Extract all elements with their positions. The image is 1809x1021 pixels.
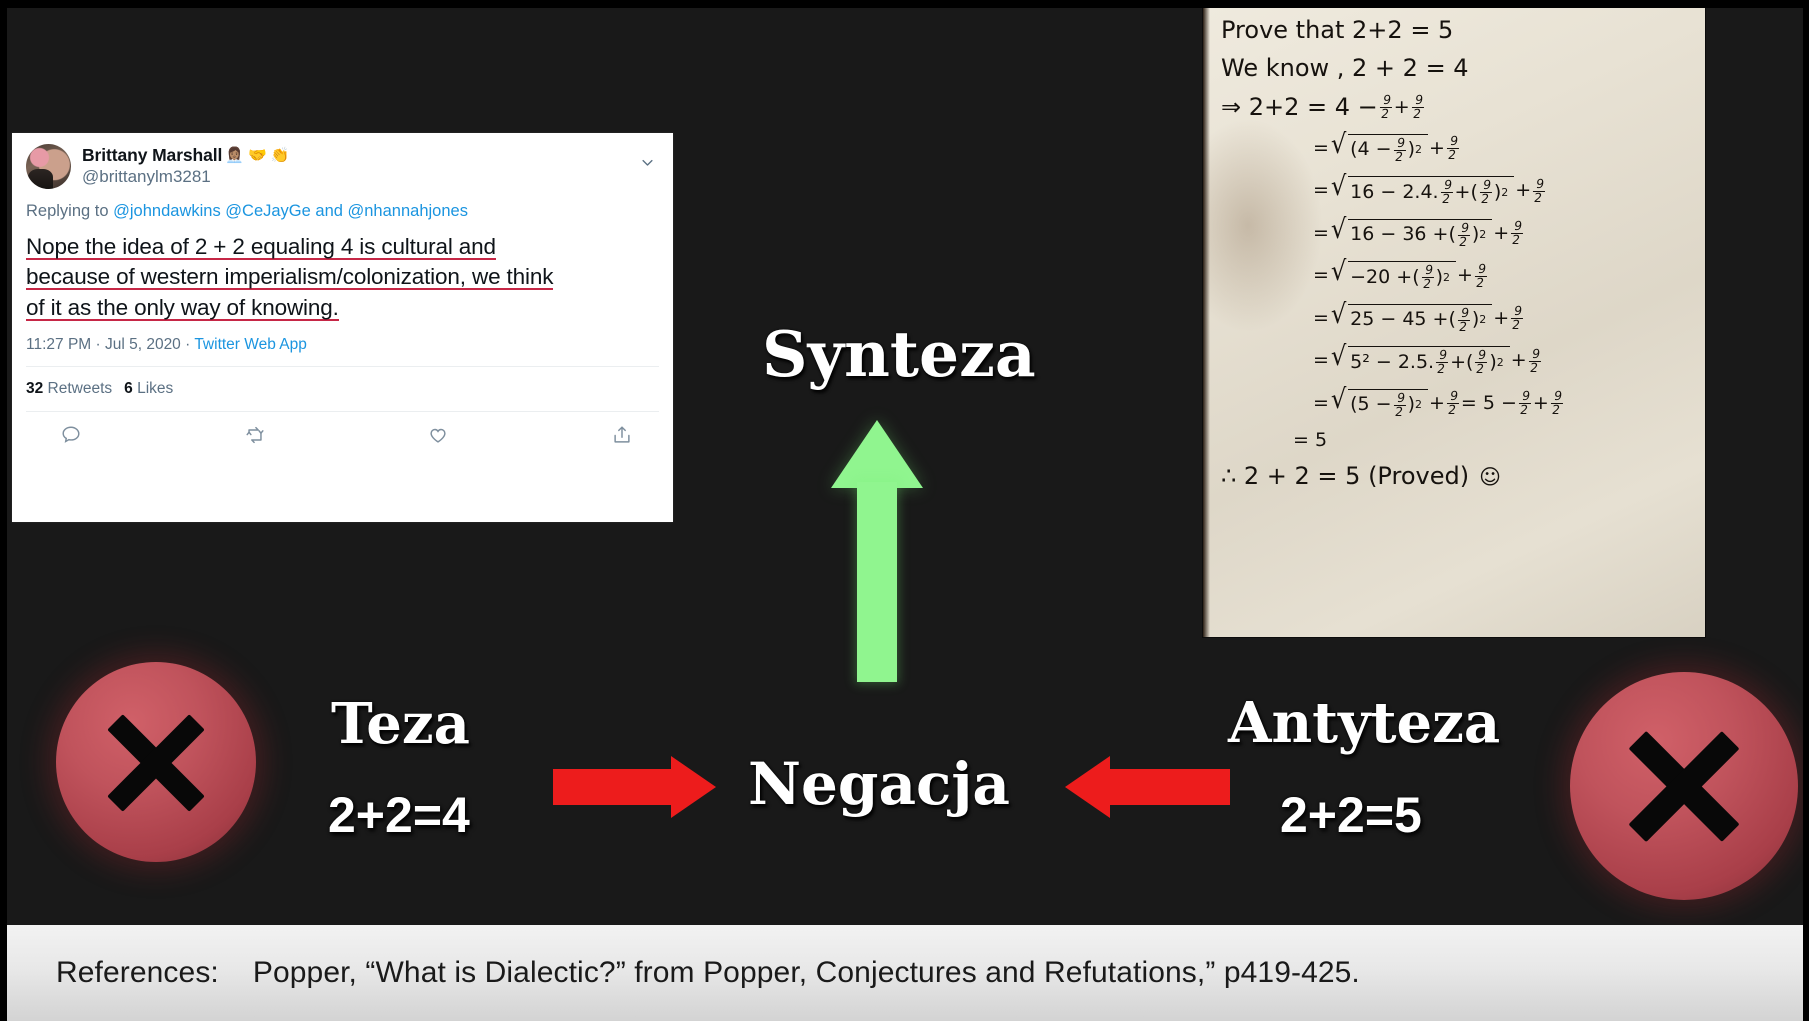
- radical: √ 25 − 45 +(92)2: [1330, 304, 1492, 334]
- avatar: [26, 144, 71, 189]
- proof-title: Prove that 2+2 = 5: [1221, 18, 1705, 43]
- smiley-face-icon: ☺: [1479, 466, 1501, 488]
- proof-step-1-plus: +: [1394, 98, 1410, 118]
- radical: √ −20 +(92)2: [1330, 261, 1456, 291]
- references-text-row: References:Popper, “What is Dialectic?” …: [0, 956, 1360, 990]
- radical: √ 5² − 2.5.92+(92)2: [1330, 346, 1510, 376]
- tweet-identity: Brittany Marshall 👩🏽‍💼 🤝 👏 @brittanylm32…: [82, 144, 289, 187]
- x-mark-badge-right: [1570, 672, 1798, 900]
- handwritten-proof-text: Prove that 2+2 = 5 We know , 2 + 2 = 4 ⇒…: [1203, 4, 1705, 490]
- tweet-body-line-1: Nope the idea of 2 + 2 equaling 4 is cul…: [26, 234, 496, 260]
- radical: √ 16 − 2.4.92+(92)2: [1330, 176, 1514, 206]
- proof-step-6: = √ 25 − 45 +(92)2 + 92: [1221, 304, 1705, 334]
- tweet-body-line-3: of it as the only way of knowing.: [26, 295, 339, 321]
- retweets-label: Retweets: [43, 380, 112, 397]
- tweet-replying-to: Replying to @johndawkins @CeJayGe and @n…: [12, 189, 673, 221]
- label-negation: Negacja: [748, 750, 1010, 818]
- share-icon[interactable]: [611, 424, 633, 446]
- likes-label: Likes: [133, 380, 174, 397]
- label-antithesis: Antyteza: [1228, 690, 1500, 756]
- references-label: References:: [56, 956, 219, 989]
- proof-step-1: ⇒ 2+2 = 4 − 92 + 92: [1221, 94, 1705, 121]
- tweet-display-name-text: Brittany Marshall: [82, 145, 222, 166]
- replying-to-mentions[interactable]: @johndawkins @CeJayGe and @nhannahjones: [113, 202, 468, 220]
- handwritten-proof-photo: Prove that 2+2 = 5 We know , 2 + 2 = 4 ⇒…: [1203, 4, 1705, 637]
- x-mark-icon: [1618, 720, 1750, 852]
- proof-known-line: We know , 2 + 2 = 4: [1221, 56, 1705, 81]
- chevron-down-icon[interactable]: [640, 155, 655, 170]
- like-icon[interactable]: [427, 424, 449, 446]
- proof-step-5: = √ −20 +(92)2 + 92: [1221, 261, 1705, 291]
- equation-antithesis: 2+2=5: [1280, 786, 1422, 844]
- proof-step-2: = √ (4 −92)2 + 92: [1221, 134, 1705, 164]
- radical: √ 16 − 36 +(92)2: [1330, 219, 1492, 249]
- reply-icon[interactable]: [60, 424, 82, 446]
- proof-step-4: = √ 16 − 36 +(92)2 + 92: [1221, 219, 1705, 249]
- tweet-header: Brittany Marshall 👩🏽‍💼 🤝 👏 @brittanylm32…: [12, 133, 673, 189]
- tweet-screenshot-card: Brittany Marshall 👩🏽‍💼 🤝 👏 @brittanylm32…: [12, 133, 673, 522]
- replying-to-prefix: Replying to: [26, 202, 113, 220]
- slide-canvas: Brittany Marshall 👩🏽‍💼 🤝 👏 @brittanylm32…: [0, 0, 1809, 1021]
- label-thesis: Teza: [331, 691, 470, 757]
- tweet-body: Nope the idea of 2 + 2 equaling 4 is cul…: [12, 221, 673, 323]
- tweet-time-text: 11:27 PM · Jul 5, 2020 ·: [26, 336, 194, 353]
- fraction-nine-halves: 92: [1410, 94, 1426, 121]
- fraction-nine-halves: 92: [1378, 94, 1394, 121]
- tweet-stats: 32 Retweets6 Likes: [12, 367, 673, 411]
- retweet-icon[interactable]: [244, 424, 266, 446]
- tweet-display-name: Brittany Marshall 👩🏽‍💼 🤝 👏: [82, 145, 289, 166]
- x-mark-badge-left: [56, 662, 256, 862]
- radical: √ (5 −92)2: [1330, 389, 1428, 419]
- label-synthesis: Synteza: [762, 317, 1036, 391]
- references-citation: Popper, “What is Dialectic?” from Popper…: [253, 956, 1360, 989]
- tweet-action-bar: [12, 412, 673, 446]
- frame-edge-right: [1803, 0, 1809, 1021]
- proof-conclusion-text: ∴ 2 + 2 = 5 (Proved): [1221, 464, 1469, 489]
- name-emoji: 👩🏽‍💼 🤝 👏: [225, 148, 289, 163]
- radical: √ (4 −92)2: [1330, 134, 1428, 164]
- frame-edge-left: [0, 0, 7, 1021]
- proof-step-7: = √ 5² − 2.5.92+(92)2 + 92: [1221, 346, 1705, 376]
- proof-step-3: = √ 16 − 2.4.92+(92)2 + 92: [1221, 176, 1705, 206]
- tweet-source-app[interactable]: Twitter Web App: [194, 336, 307, 353]
- references-bar: References:Popper, “What is Dialectic?” …: [0, 925, 1809, 1021]
- tweet-body-line-2: because of western imperialism/colonizat…: [26, 264, 553, 290]
- likes-count: 6: [124, 380, 133, 397]
- tweet-timestamp: 11:27 PM · Jul 5, 2020 · Twitter Web App: [12, 323, 673, 366]
- retweets-count: 32: [26, 380, 43, 397]
- equation-thesis: 2+2=4: [328, 786, 470, 844]
- proof-result: = 5: [1221, 431, 1705, 451]
- proof-step-8: = √ (5 −92)2 + 92 = 5 − 92 + 92: [1221, 389, 1705, 419]
- proof-conclusion: ∴ 2 + 2 = 5 (Proved) ☺: [1221, 464, 1705, 489]
- x-mark-icon: [98, 704, 214, 820]
- tweet-handle: @brittanylm3281: [82, 167, 289, 187]
- equals-sign: =: [1313, 139, 1329, 159]
- frame-edge-top: [0, 0, 1809, 8]
- proof-step-1-lhs: ⇒ 2+2 = 4 −: [1221, 95, 1378, 120]
